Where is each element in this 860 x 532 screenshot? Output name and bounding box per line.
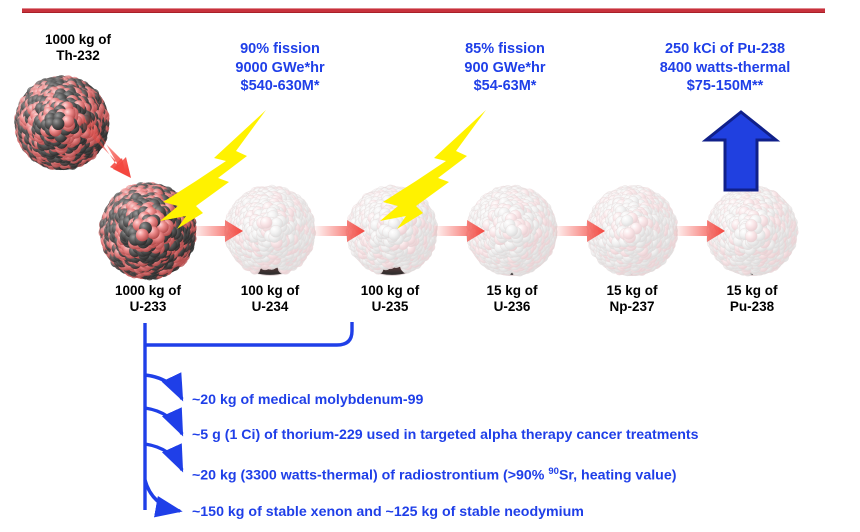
nucleus-th-232 bbox=[14, 75, 110, 170]
label-th-232-qty: 1000 kg of bbox=[45, 32, 111, 47]
byproduct-item-moly-99: ~20 kg of medical molybdenum-99 bbox=[192, 392, 423, 409]
label-u-234-qty: 100 kg of bbox=[241, 283, 300, 298]
label-np-237-isotope: Np-237 bbox=[572, 299, 692, 315]
callout-fission-u235: 85% fission 900 GWe*hr $54-63M* bbox=[425, 40, 585, 96]
callout-fission-u235-line2: 900 GWe*hr bbox=[425, 59, 585, 78]
arrow-u233-to-u234 bbox=[190, 220, 243, 242]
nucleus-u-235 bbox=[346, 185, 438, 276]
arrow-up-pu238 bbox=[706, 112, 776, 190]
byproduct-item-radiostrontium: ~20 kg (3300 watts-thermal) of radiostro… bbox=[192, 463, 676, 485]
nucleus-pu-238 bbox=[706, 185, 798, 276]
radiostrontium-pre: ~20 kg (3300 watts-thermal) of radiostro… bbox=[192, 468, 548, 484]
nucleus-u-236 bbox=[466, 185, 557, 276]
label-u-236-isotope: U-236 bbox=[452, 299, 572, 315]
label-u-235-isotope: U-235 bbox=[330, 299, 450, 315]
label-pu-238-qty: 15 kg of bbox=[726, 283, 777, 298]
label-u-233-isotope: U-233 bbox=[88, 299, 208, 315]
byproduct-item-xenon-neodymium: ~150 kg of stable xenon and ~125 kg of s… bbox=[192, 504, 584, 521]
label-u-234-isotope: U-234 bbox=[210, 299, 330, 315]
callout-fission-u233-line3: $540-630M* bbox=[200, 77, 360, 96]
arrow-u234-to-u235 bbox=[312, 220, 365, 242]
nucleus-np-237 bbox=[586, 185, 678, 276]
label-th-232-isotope: Th-232 bbox=[8, 48, 148, 64]
nucleus-u-233 bbox=[98, 182, 196, 280]
label-u-235-qty: 100 kg of bbox=[361, 283, 420, 298]
lightning-bolt-u235 bbox=[380, 110, 486, 229]
radiostrontium-mass-number: 90 bbox=[548, 466, 559, 477]
callout-fission-u235-line3: $54-63M* bbox=[425, 77, 585, 96]
label-u-233: 1000 kg of U-233 bbox=[88, 283, 208, 315]
callout-pu238-line3: $75-150M** bbox=[625, 77, 825, 96]
label-u-235: 100 kg of U-235 bbox=[330, 283, 450, 315]
diagram-canvas: 1000 kg of Th-232 90% fission 9000 GWe*h… bbox=[0, 0, 860, 532]
label-np-237: 15 kg of Np-237 bbox=[572, 283, 692, 315]
callout-pu238-line1: 250 kCi of Pu-238 bbox=[625, 40, 825, 59]
arrow-np237-to-pu238 bbox=[672, 220, 725, 242]
top-rule-divider bbox=[22, 8, 825, 13]
callout-fission-u235-line1: 85% fission bbox=[425, 40, 585, 59]
label-pu-238: 15 kg of Pu-238 bbox=[692, 283, 812, 315]
radiostrontium-post: Sr, heating value) bbox=[559, 468, 676, 484]
callout-pu238-product: 250 kCi of Pu-238 8400 watts-thermal $75… bbox=[625, 40, 825, 96]
label-pu-238-isotope: Pu-238 bbox=[692, 299, 812, 315]
nucleus-u-234 bbox=[224, 185, 316, 276]
arrow-th232-to-u233 bbox=[78, 112, 131, 178]
callout-fission-u233-line2: 9000 GWe*hr bbox=[200, 59, 360, 78]
arrow-u235-to-u236 bbox=[432, 220, 485, 242]
callout-pu238-line2: 8400 watts-thermal bbox=[625, 59, 825, 78]
callout-fission-u233-line1: 90% fission bbox=[200, 40, 360, 59]
lightning-bolt-u233 bbox=[160, 110, 266, 229]
label-u-234: 100 kg of U-234 bbox=[210, 283, 330, 315]
label-u-236-qty: 15 kg of bbox=[486, 283, 537, 298]
label-u-236: 15 kg of U-236 bbox=[452, 283, 572, 315]
label-th-232: 1000 kg of Th-232 bbox=[8, 32, 148, 64]
arrow-u236-to-np237 bbox=[552, 220, 605, 242]
byproduct-item-thorium-229: ~5 g (1 Ci) of thorium-229 used in targe… bbox=[192, 427, 699, 444]
callout-fission-u233: 90% fission 9000 GWe*hr $540-630M* bbox=[200, 40, 360, 96]
label-u-233-qty: 1000 kg of bbox=[115, 283, 181, 298]
label-np-237-qty: 15 kg of bbox=[606, 283, 657, 298]
